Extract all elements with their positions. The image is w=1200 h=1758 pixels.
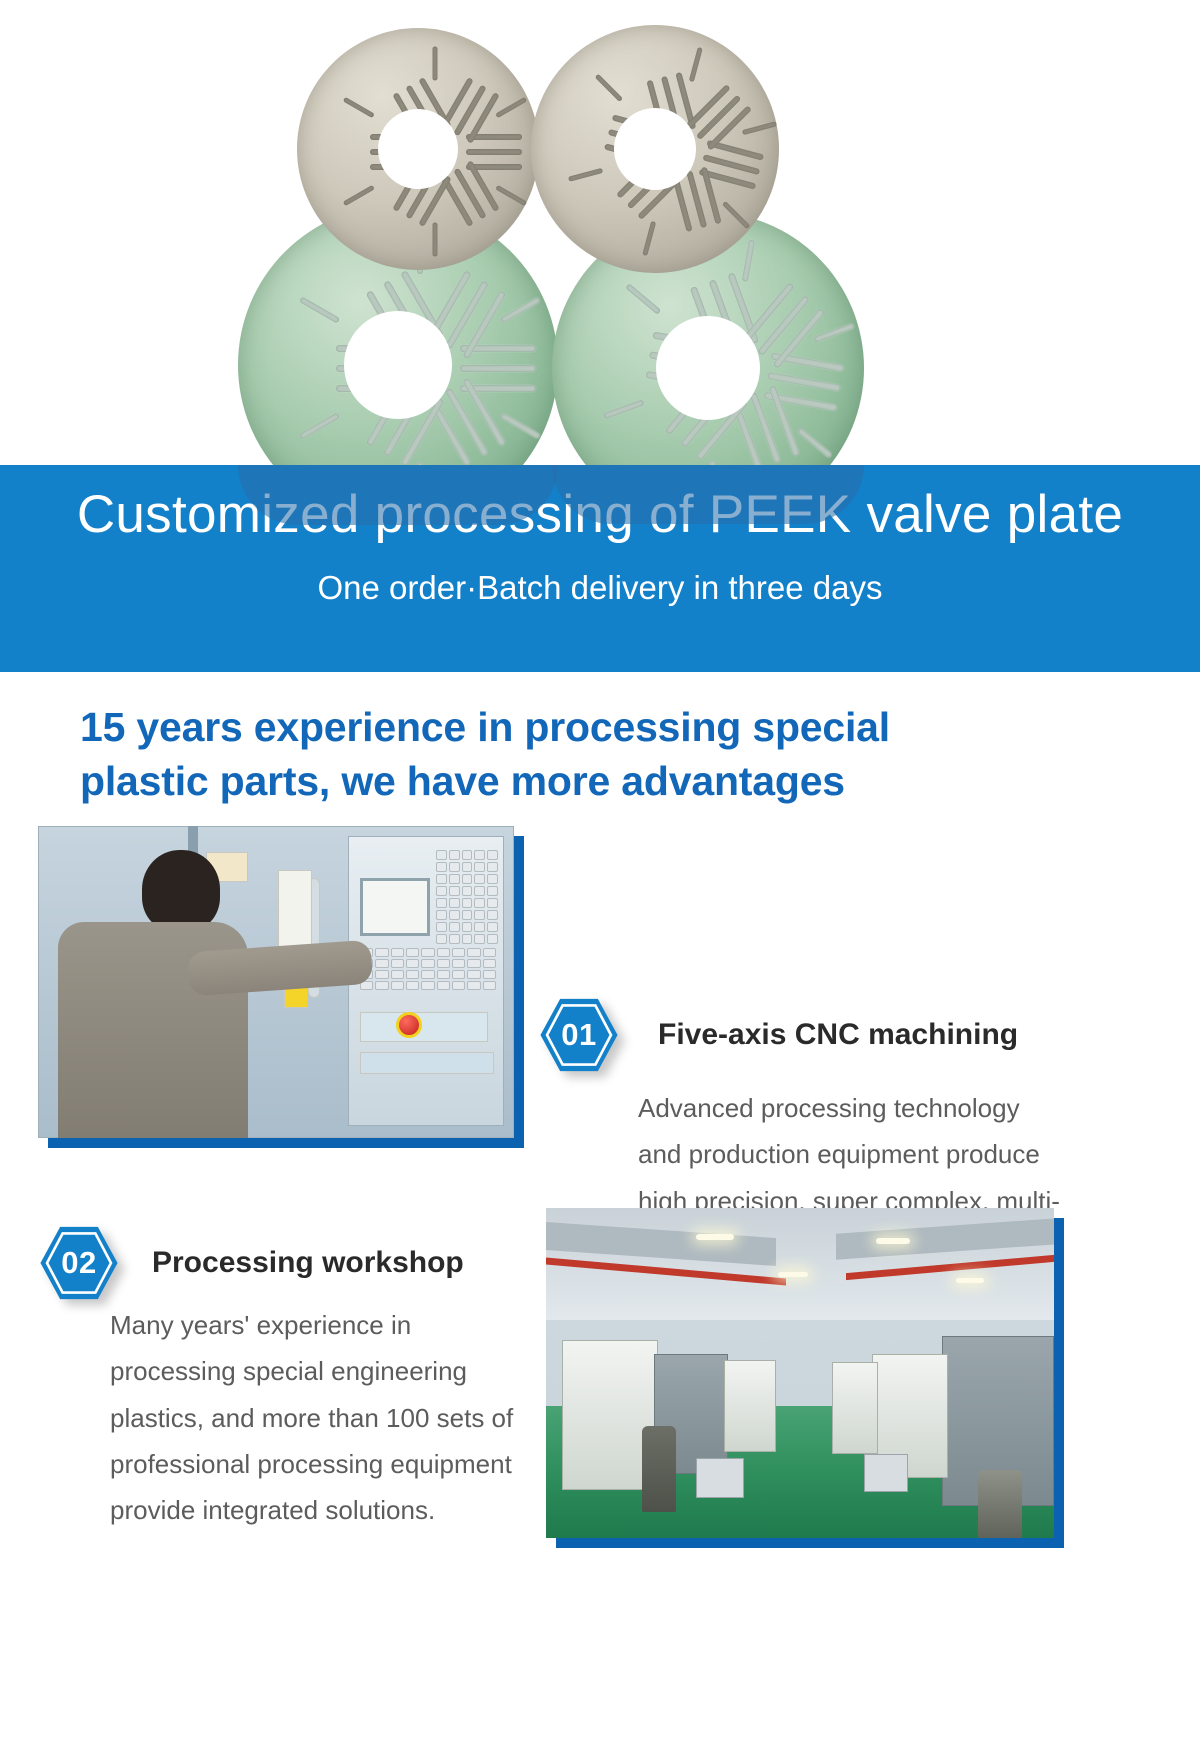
badge-number-01: 01: [538, 994, 620, 1076]
hero-title: Customized processing of PEEK valve plat…: [0, 487, 1200, 543]
badge-hexagon-01: 01: [538, 994, 620, 1076]
feature-02-photo: [546, 1208, 1054, 1538]
workshop-duct-right: [836, 1218, 1054, 1259]
workshop-machine-right-2: [872, 1354, 948, 1478]
feature-01-header: 01 Five-axis CNC machining: [538, 994, 1018, 1076]
workshop-light-2: [876, 1238, 910, 1244]
badge-hexagon-02: 02: [38, 1222, 120, 1304]
workshop-pipe-red-2: [846, 1255, 1054, 1280]
valve-plate-steel-right: [531, 25, 779, 273]
cnc-screen: [360, 878, 430, 936]
workshop-worker-right: [978, 1470, 1022, 1538]
workshop-cart-right: [864, 1454, 908, 1492]
cnc-handle: [308, 878, 320, 998]
page-headline-line-1: 15 years experience in processing specia…: [80, 700, 1100, 754]
cnc-button-strip: [360, 1052, 494, 1074]
workshop-duct-left: [546, 1222, 776, 1266]
workshop-machine-left-1: [562, 1340, 658, 1490]
cnc-control-panel: [348, 836, 504, 1126]
workshop-floor: [546, 1406, 1054, 1538]
cnc-warning-label: [360, 1012, 488, 1042]
cnc-operator-arm: [187, 940, 374, 997]
workshop-pipe-red: [546, 1258, 786, 1286]
feature-01-title: Five-axis CNC machining: [658, 1018, 1018, 1052]
cnc-emergency-stop-button[interactable]: [396, 1012, 422, 1038]
badge-number-02: 02: [38, 1222, 120, 1304]
workshop-machine-left-2: [654, 1354, 728, 1474]
workshop-photo-scene: [546, 1208, 1054, 1538]
feature-01-photo: [38, 826, 514, 1138]
feature-02-title: Processing workshop: [152, 1246, 464, 1280]
hero-subtitle: One order·Batch delivery in three days: [0, 570, 1200, 606]
feature-02-header: 02 Processing workshop: [38, 1222, 464, 1304]
hero-title-band: Customized processing of PEEK valve plat…: [0, 465, 1200, 672]
valve-plate-steel-left: [297, 28, 539, 270]
page-headline: 15 years experience in processing specia…: [80, 700, 1100, 808]
cnc-operator-head: [142, 850, 220, 932]
page-headline-line-2: plastic parts, we have more advantages: [80, 754, 1100, 808]
cnc-lower-keypad: [360, 948, 496, 1000]
workshop-light-1: [696, 1234, 734, 1240]
workshop-machine-left-3: [724, 1360, 776, 1452]
cnc-sticker-hazard: [284, 984, 308, 1008]
hero-section: Customized processing of PEEK valve plat…: [0, 0, 1200, 672]
cnc-door-gap: [188, 826, 198, 1138]
cnc-photo-scene: [38, 826, 514, 1138]
workshop-light-3: [778, 1272, 808, 1277]
cnc-enclosure: [38, 826, 514, 1138]
cnc-sticker-mid: [278, 870, 312, 970]
workshop-ceiling: [546, 1208, 1054, 1320]
workshop-machine-right-1: [942, 1336, 1054, 1506]
feature-02-body: Many years' experience in processing spe…: [110, 1302, 520, 1533]
cnc-keypad: [436, 850, 498, 960]
workshop-light-4: [956, 1278, 984, 1283]
cnc-sticker-top: [206, 852, 248, 882]
workshop-worker-left: [642, 1426, 676, 1512]
cnc-operator-body: [58, 922, 248, 1138]
workshop-machine-right-3: [832, 1362, 878, 1454]
workshop-cart-left: [696, 1458, 744, 1498]
